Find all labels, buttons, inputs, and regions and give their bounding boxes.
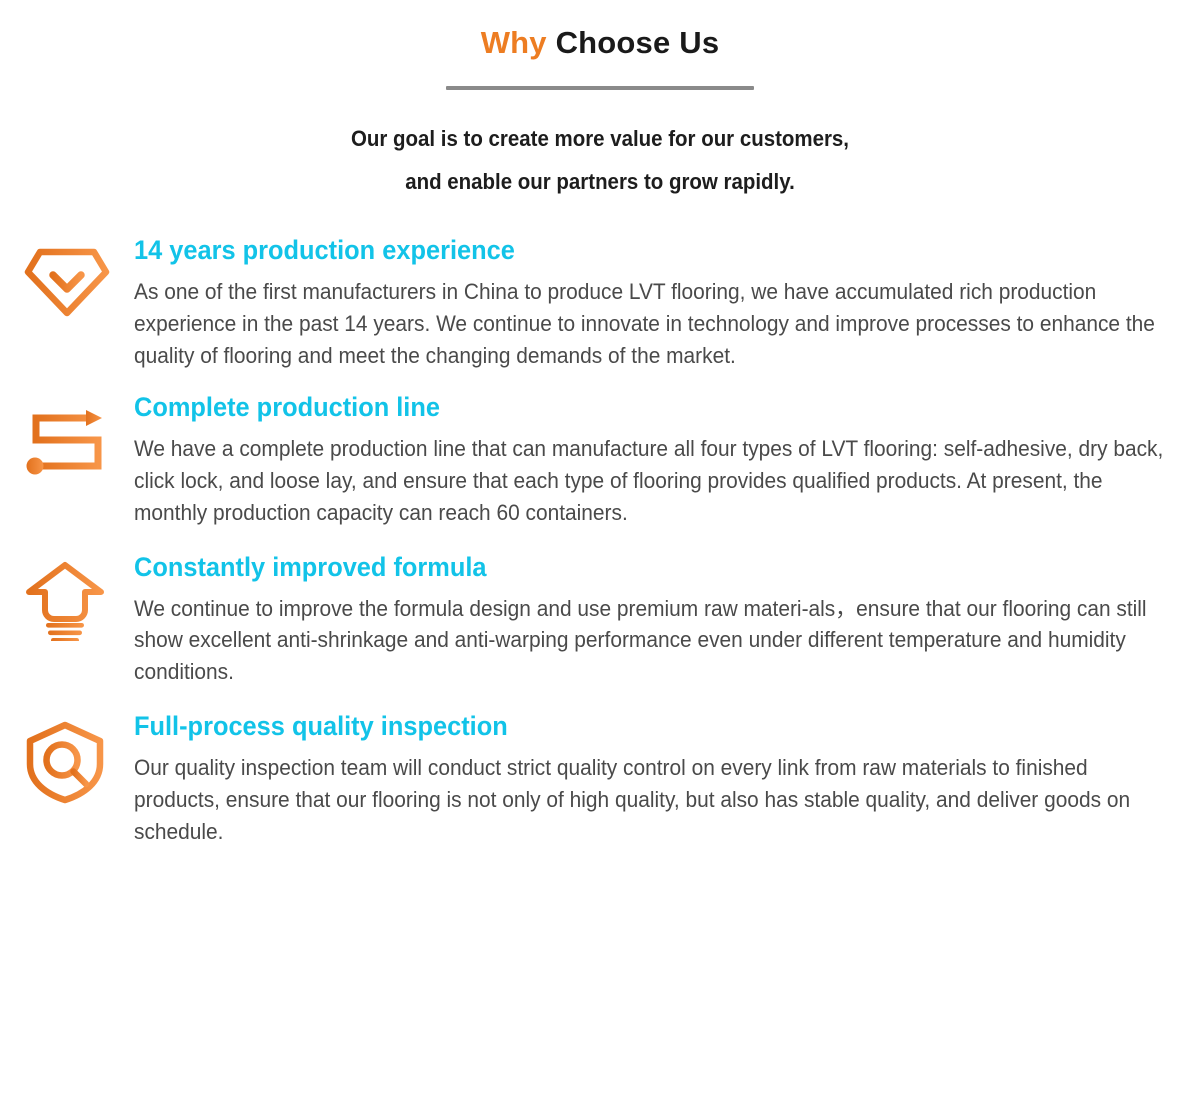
subtitle-line-2: and enable our partners to grow rapidly. [219,161,982,204]
feature-title: Constantly improved formula [134,551,1108,585]
feature-title: Full-process quality inspection [134,710,1108,744]
page-title: Why Choose Us [0,24,1200,61]
why-choose-us-section: Why Choose Us Our goal is to create more… [0,0,1200,1099]
shield-magnifier-icon [22,708,134,804]
section-subtitle: Our goal is to create more value for our… [219,118,982,204]
feature-item: Constantly improved formula We continue … [22,549,1170,688]
feature-item: Complete production line We have a compl… [22,391,1170,528]
feature-description: We continue to improve the formula desig… [134,593,1167,689]
feature-description: We have a complete production line that … [134,433,1167,529]
diamond-check-icon [22,234,134,330]
feature-body: Complete production line We have a compl… [134,391,1170,528]
process-flow-arrow-icon [22,391,134,487]
title-divider [446,86,754,90]
page-title-rest: Choose Us [547,25,720,60]
feature-body: Full-process quality inspection Our qual… [134,708,1170,847]
feature-title: Complete production line [134,391,1108,425]
feature-body: Constantly improved formula We continue … [134,549,1170,688]
feature-item: Full-process quality inspection Our qual… [22,708,1170,847]
feature-title: 14 years production experience [134,234,1108,268]
page-title-accent: Why [481,25,547,60]
subtitle-line-1: Our goal is to create more value for our… [219,118,982,161]
feature-item: 14 years production experience As one of… [22,234,1170,371]
feature-description: Our quality inspection team will conduct… [134,752,1167,848]
upward-arrow-lightbulb-icon [22,549,134,645]
feature-list: 14 years production experience As one of… [0,234,1200,848]
section-header: Why Choose Us Our goal is to create more… [0,0,1200,204]
feature-description: As one of the first manufacturers in Chi… [134,276,1167,372]
feature-body: 14 years production experience As one of… [134,234,1170,371]
